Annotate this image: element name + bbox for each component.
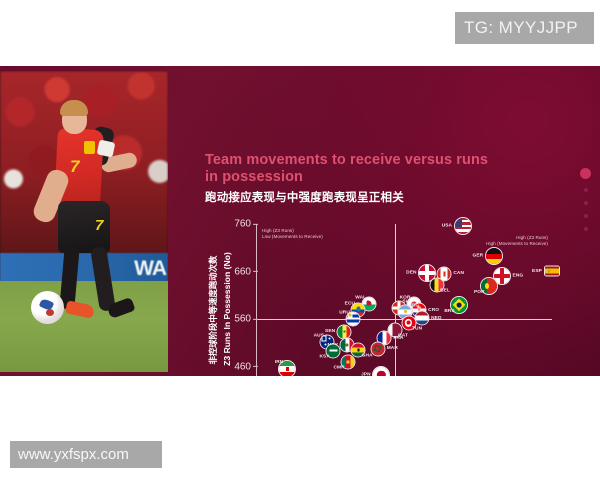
data-point[interactable]: ESP [544,266,560,277]
y-tick-label: 660 [234,266,257,277]
side-dot[interactable] [584,214,588,218]
flag-icon-jpn [372,366,390,376]
data-point-label: KSA [319,355,329,360]
y-tick-label: 760 [234,219,257,230]
data-point-label: WAL [355,296,366,301]
data-point-label: MAR [385,346,398,351]
slide-canvas: WA 7 7 Team movements to receive versus … [0,66,600,376]
data-point-label: FRA [392,336,404,341]
flag-icon-ned [415,311,430,326]
data-point-label: BRA [444,309,455,314]
data-point[interactable]: BRA [450,296,468,314]
data-point-label: URU [339,310,350,315]
data-point[interactable]: IRN [278,360,296,376]
data-point-label: TUN [412,326,422,331]
data-point[interactable]: GER [485,247,503,265]
player-shirt-number: 7 [70,157,79,177]
photo-pitch-grass [0,281,168,372]
data-point-label: GHA [362,353,373,358]
scatter-chart: 360460560660760 200300400500600 High (Z3… [190,209,590,376]
data-point-label: ECU [345,301,355,306]
y-tick-label: 560 [234,314,257,325]
player-hair [60,100,88,116]
photo-board-text: WA [134,257,166,281]
page-subtitle: 跑动接应表现与中强度跑表现呈正相关 [205,189,404,205]
data-point[interactable]: BEL [429,277,444,292]
data-point-label: ENG [511,274,523,279]
quadrant-note-line: Low (Movements to Receive) [262,234,323,240]
side-dot-active[interactable] [580,168,591,179]
flag-icon-usa [454,217,472,235]
side-dot[interactable] [584,188,588,192]
player-crest [84,141,95,154]
player-photo: WA 7 7 [0,71,168,372]
y-tick-label: 460 [234,361,257,372]
data-point[interactable]: CMR [341,354,356,369]
bottom-watermark: www.yxfspx.com [10,441,162,468]
flag-icon-ger [485,247,503,265]
data-point-label: DEN [406,270,418,275]
y-axis-title: Z3 Runs In Possession (No) [222,214,232,376]
side-dot[interactable] [584,201,588,205]
data-point-label: CAN [452,271,464,276]
y-axis-title-cn: 非控球阶段中等速度跑动次数 [207,215,219,376]
top-watermark: TG: MYYJJPP [455,12,594,44]
screenshot-root: TG: MYYJJPP www.yxfspx.com WA 7 7 [0,0,600,480]
data-point[interactable]: TUN [401,315,416,330]
data-point-label: USA [442,223,454,228]
bottom-watermark-text: www.yxfspx.com [18,446,129,463]
data-point-label: ESP [532,269,544,274]
quadrant-note-top-left: High (Z3 Runs)Low (Movements to Receive) [262,228,323,240]
data-point[interactable]: USA [454,217,472,235]
side-navigation-dots[interactable] [580,168,591,231]
plot-area: 360460560660760 200300400500600 High (Z3… [256,224,552,376]
data-point[interactable]: JPN [372,366,390,376]
data-point-label: JPN [361,372,372,376]
data-point[interactable]: NED [415,311,430,326]
data-point-label: IRN [275,360,284,365]
side-dot[interactable] [584,227,588,231]
data-point[interactable]: POR [480,277,498,295]
data-point-label: BEL [440,288,450,293]
page-title: Team movements to receive versus runs in… [205,152,500,186]
player-shorts-number: 7 [95,217,103,234]
data-point[interactable]: KSA [326,344,341,359]
top-watermark-text: TG: MYYJJPP [464,18,578,38]
data-point-label: CMR [333,365,344,370]
data-point-label: NED [430,316,442,321]
data-point-label: POR [474,290,485,295]
flag-icon-esp [544,266,560,277]
player-captain-armband [97,140,116,158]
data-point-label: AUS [314,334,324,339]
data-point-label: GER [473,254,485,259]
match-ball-marking-2 [46,309,54,316]
quadrant-note-top-right: High (Z3 Runs)High (Movements to Receive… [486,235,548,247]
data-point-label: ARG [408,304,419,309]
